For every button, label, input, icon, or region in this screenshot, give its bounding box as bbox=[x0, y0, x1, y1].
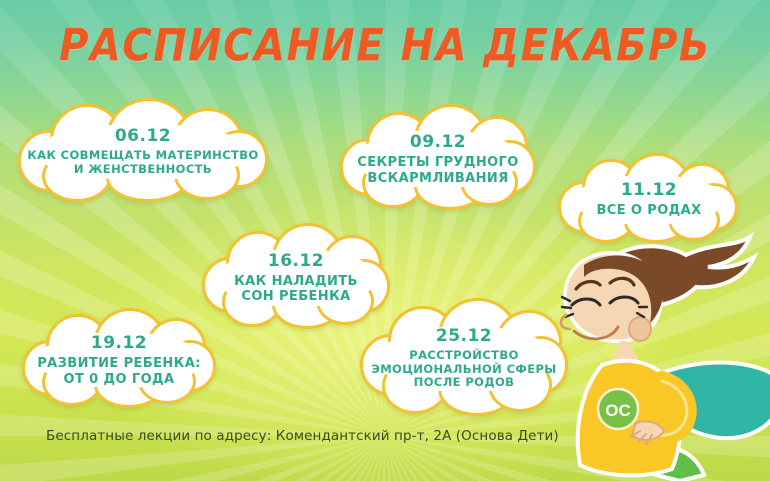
event-line: СЕКРЕТЫ ГРУДНОГО bbox=[357, 155, 518, 170]
event-line: КАК НАЛАДИТЬ bbox=[234, 274, 358, 289]
event-line: ЭМОЦИОНАЛЬНОЙ СФЕРЫ bbox=[371, 363, 556, 377]
badge-text: ОС bbox=[605, 401, 631, 420]
event-date: 09.12 bbox=[357, 132, 518, 152]
event-line: ВСЕ О РОДАХ bbox=[596, 203, 701, 218]
ear-shape bbox=[629, 317, 651, 341]
event-line: ОТ 0 ДО ГОДА bbox=[37, 372, 201, 387]
event-text: 06.12 КАК СОВМЕЩАТЬ МАТЕРИНСТВО И ЖЕНСТВ… bbox=[15, 126, 270, 176]
event-cloud-2[interactable]: 11.12 ВСЕ О РОДАХ bbox=[558, 155, 740, 243]
event-date: 25.12 bbox=[371, 326, 556, 346]
event-text: 19.12 РАЗВИТИЕ РЕБЕНКА: ОТ 0 ДО ГОДА bbox=[25, 333, 213, 387]
superhero-mom-illustration: ОС bbox=[544, 231, 770, 481]
event-cloud-1[interactable]: 09.12 СЕКРЕТЫ ГРУДНОГО ВСКАРМЛИВАНИЯ bbox=[338, 106, 538, 212]
event-cloud-4[interactable]: 19.12 РАЗВИТИЕ РЕБЕНКА: ОТ 0 ДО ГОДА bbox=[20, 310, 218, 410]
page-title: РАСПИСАНИЕ НА ДЕКАБРЬ bbox=[0, 20, 770, 72]
event-text: 11.12 ВСЕ О РОДАХ bbox=[584, 180, 713, 218]
event-text: 16.12 КАК НАЛАДИТЬ СОН РЕБЕНКА bbox=[222, 251, 370, 305]
event-line: КАК СОВМЕЩАТЬ МАТЕРИНСТВО bbox=[27, 149, 258, 163]
event-line: ВСКАРМЛИВАНИЯ bbox=[357, 171, 518, 186]
event-date: 19.12 bbox=[37, 333, 201, 353]
event-cloud-5[interactable]: 25.12 РАССТРОЙСТВО ЭМОЦИОНАЛЬНОЙ СФЕРЫ П… bbox=[358, 298, 570, 418]
event-cloud-0[interactable]: 06.12 КАК СОВМЕЩАТЬ МАТЕРИНСТВО И ЖЕНСТВ… bbox=[14, 100, 272, 203]
event-text: 25.12 РАССТРОЙСТВО ЭМОЦИОНАЛЬНОЙ СФЕРЫ П… bbox=[359, 326, 568, 390]
event-date: 11.12 bbox=[596, 180, 701, 200]
event-line: РАССТРОЙСТВО bbox=[371, 349, 556, 363]
event-date: 16.12 bbox=[234, 251, 358, 271]
footer-note: Бесплатные лекции по адресу: Комендантск… bbox=[46, 428, 559, 444]
event-text: 09.12 СЕКРЕТЫ ГРУДНОГО ВСКАРМЛИВАНИЯ bbox=[345, 132, 530, 186]
poster-canvas: РАСПИСАНИЕ НА ДЕКАБРЬ 06.12 КАК СОВМЕЩАТ… bbox=[0, 0, 770, 481]
event-date: 06.12 bbox=[27, 126, 258, 146]
event-line: И ЖЕНСТВЕННОСТЬ bbox=[27, 163, 258, 177]
event-line: СОН РЕБЕНКА bbox=[234, 289, 358, 304]
event-line: РАЗВИТИЕ РЕБЕНКА: bbox=[37, 356, 201, 371]
event-line: ПОСЛЕ РОДОВ bbox=[371, 376, 556, 390]
